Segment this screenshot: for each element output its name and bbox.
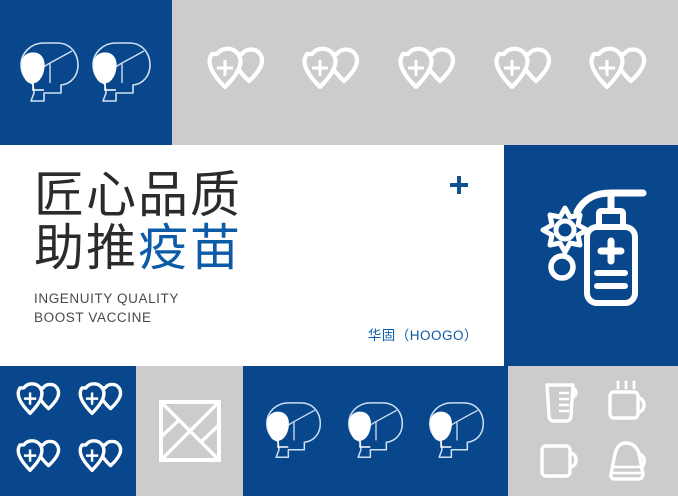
sanitizer-scene [515,181,667,331]
headline-line-2-accent: 疫苗 [138,220,242,276]
steaming-mug-icon [605,380,649,424]
vessels-panel [508,366,678,496]
kettle-icon [604,440,650,482]
mug-icon [538,441,582,481]
double-heart-plus-icon [69,380,129,425]
double-heart-plus-icon [7,437,67,482]
medical-plus-icon [449,175,469,195]
double-heart-plus-icon [577,44,655,102]
headline-line-2-dark: 助推 [34,220,138,276]
broken-image-placeholder-icon [158,399,222,463]
double-heart-plus-icon [69,437,129,482]
masked-face-icon [89,37,155,109]
double-heart-plus-icon [482,44,560,102]
headline-line-2: 助推疫苗 [34,222,476,275]
brand-name: 华固（HOOGO） [368,324,478,344]
virus-icon [543,208,587,278]
masked-face-icon [426,395,488,467]
masked-face-icon [345,395,407,467]
measuring-beaker-icon [540,380,580,424]
bottom-masks-panel [243,366,508,496]
masked-face-icon [263,395,325,467]
sanitizer-pump-bottle-icon [577,193,643,303]
placeholder-panel [136,366,243,496]
top-masks-panel [0,0,172,145]
poster-canvas: 匠心品质 助推疫苗 INGENUITY QUALITY BOOST VACCIN… [0,0,678,496]
masked-face-icon [17,37,83,109]
double-heart-plus-icon [7,380,67,425]
bottom-hearts-panel [0,366,136,496]
headline-card: 匠心品质 助推疫苗 INGENUITY QUALITY BOOST VACCIN… [0,145,504,366]
sanitizer-panel [504,145,678,366]
double-heart-plus-icon [290,44,368,102]
double-heart-plus-icon [195,44,273,102]
subtitle-english: INGENUITY QUALITY BOOST VACCINE [34,289,476,327]
top-hearts-panel [172,0,678,145]
headline-line-1: 匠心品质 [34,169,476,222]
double-heart-plus-icon [386,44,464,102]
